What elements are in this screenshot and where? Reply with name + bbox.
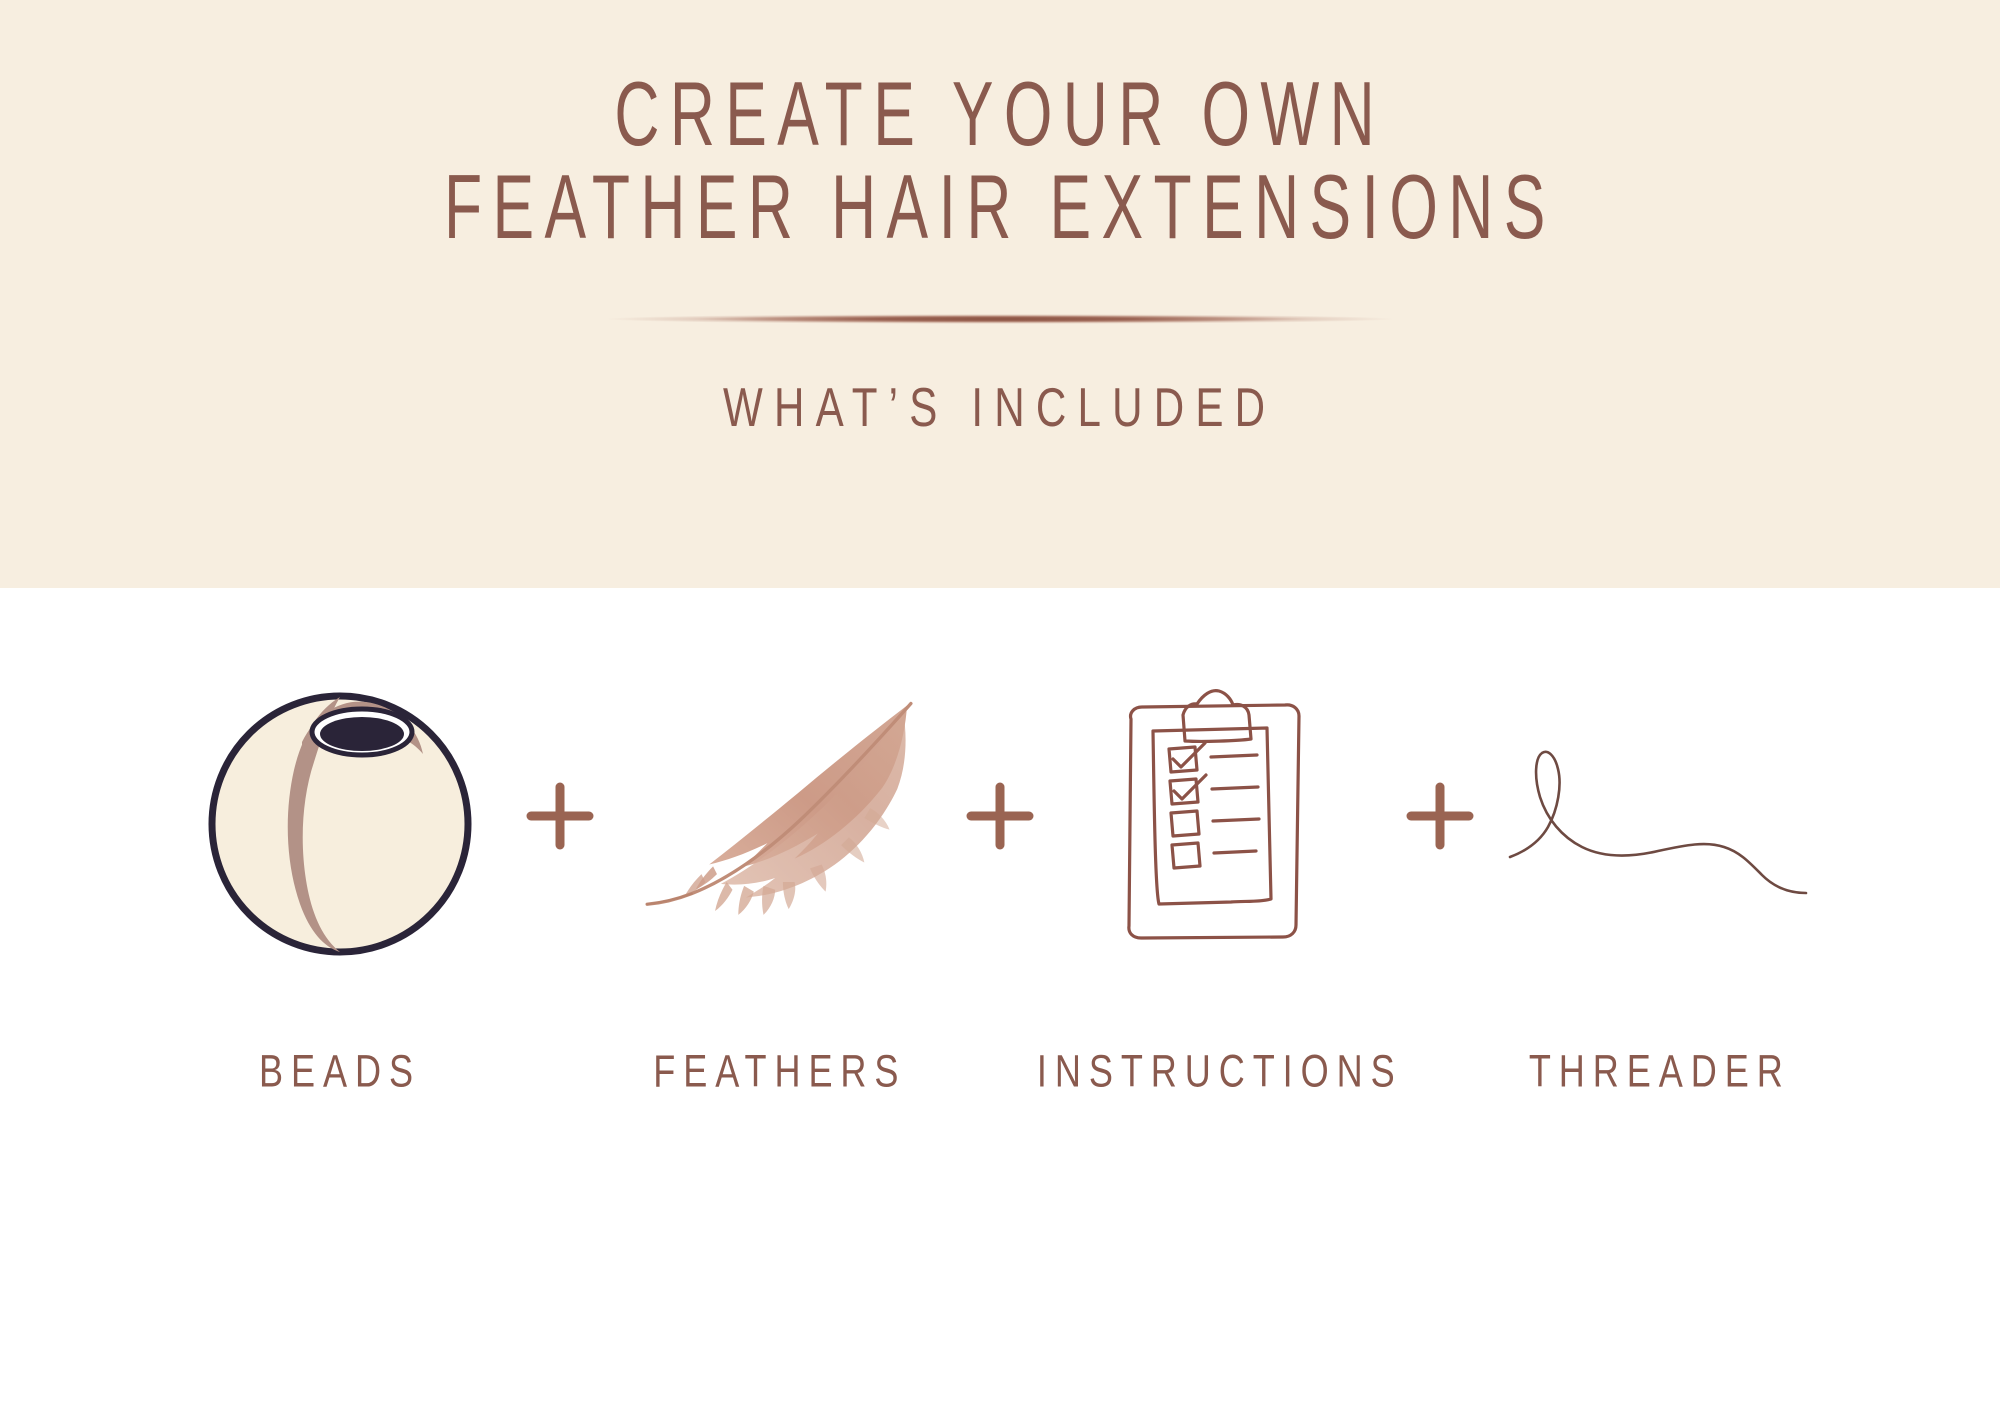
item-label-feathers: FEATHERS bbox=[653, 1046, 906, 1098]
section-subtitle: WHAT’S INCLUDED bbox=[723, 376, 1276, 439]
plus-icon bbox=[965, 781, 1035, 851]
feather-icon bbox=[620, 666, 940, 966]
separator-plus-2 bbox=[940, 666, 1060, 966]
clipboard-checklist-icon bbox=[1060, 666, 1380, 966]
item-label-instructions: INSTRUCTIONS bbox=[1037, 1046, 1403, 1098]
page-title-line-1: CREATE YOUR OWN bbox=[615, 63, 1386, 166]
item-feathers: FEATHERS bbox=[620, 588, 940, 1095]
item-instructions: INSTRUCTIONS bbox=[1060, 588, 1380, 1095]
item-label-threader: THREADER bbox=[1529, 1046, 1791, 1098]
page-title-line-2: FEATHER HAIR EXTENSIONS bbox=[444, 156, 1556, 259]
plus-icon bbox=[525, 781, 595, 851]
divider-lens-shape bbox=[605, 314, 1395, 324]
ornamental-divider bbox=[605, 314, 1395, 324]
separator-plus-3 bbox=[1380, 666, 1500, 966]
header-banner: CREATE YOUR OWN FEATHER HAIR EXTENSIONS … bbox=[0, 0, 2000, 588]
separator-plus-1 bbox=[500, 666, 620, 966]
bead-icon bbox=[180, 666, 500, 966]
included-items-row: BEADS bbox=[0, 588, 2000, 1414]
item-beads: BEADS bbox=[180, 588, 500, 1095]
plus-icon bbox=[1405, 781, 1475, 851]
item-label-beads: BEADS bbox=[259, 1046, 421, 1098]
threader-icon bbox=[1500, 666, 1820, 966]
item-threader: THREADER bbox=[1500, 588, 1820, 1095]
